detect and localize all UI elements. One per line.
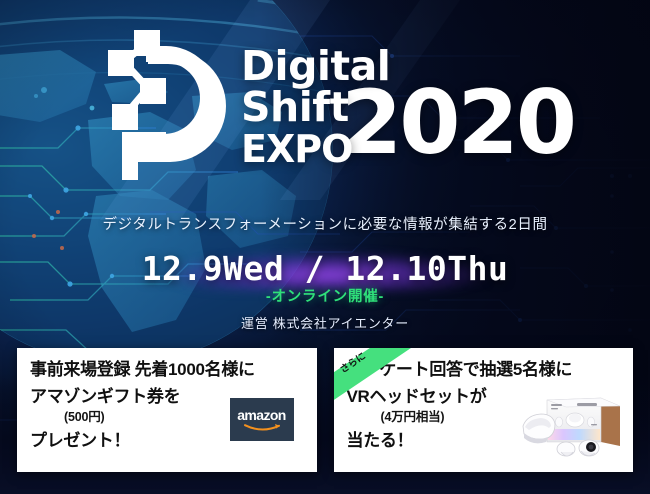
amazon-swoosh-icon <box>244 423 280 432</box>
event-title-block: 2020 Digital Shift EXPO <box>241 46 541 186</box>
offer-card-vr[interactable]: さらに アンケート回答で抽選5名様に VRヘッドセットが (4万円相当) 当たる… <box>334 348 634 472</box>
event-title-line-1: Digital <box>241 46 390 87</box>
digital-shift-d-mark-icon <box>104 28 232 186</box>
extra-ribbon-badge: さらに <box>334 348 420 434</box>
offer-line-1: 事前来場登録 先着1000名様に <box>30 361 304 379</box>
amazon-wordmark: amazon <box>237 408 286 422</box>
offer-cards: 事前来場登録 先着1000名様に アマゾンギフト券を (500円) プレゼント！… <box>0 348 650 472</box>
event-dates: 12.9Wed / 12.10Thu <box>0 249 650 288</box>
vr-headset-image <box>521 386 627 462</box>
offer-card-amazon[interactable]: 事前来場登録 先着1000名様に アマゾンギフト券を (500円) プレゼント！… <box>17 348 317 472</box>
amazon-logo-icon: amazon <box>230 398 294 441</box>
digital-shift-expo-banner: 2020 Digital Shift EXPO デジタルトランスフォーメーション… <box>0 0 650 494</box>
event-title-line-3: EXPO <box>241 130 352 168</box>
event-tagline: デジタルトランスフォーメーションに必要な情報が集結する2日間 <box>0 213 650 234</box>
event-year: 2020 <box>341 79 574 167</box>
event-organizer: 運営 株式会社アイエンター <box>0 313 650 332</box>
hero-header: 2020 Digital Shift EXPO <box>0 0 650 200</box>
event-format-label: -オンライン開催- <box>0 285 650 306</box>
event-title-line-2: Shift <box>241 87 349 128</box>
